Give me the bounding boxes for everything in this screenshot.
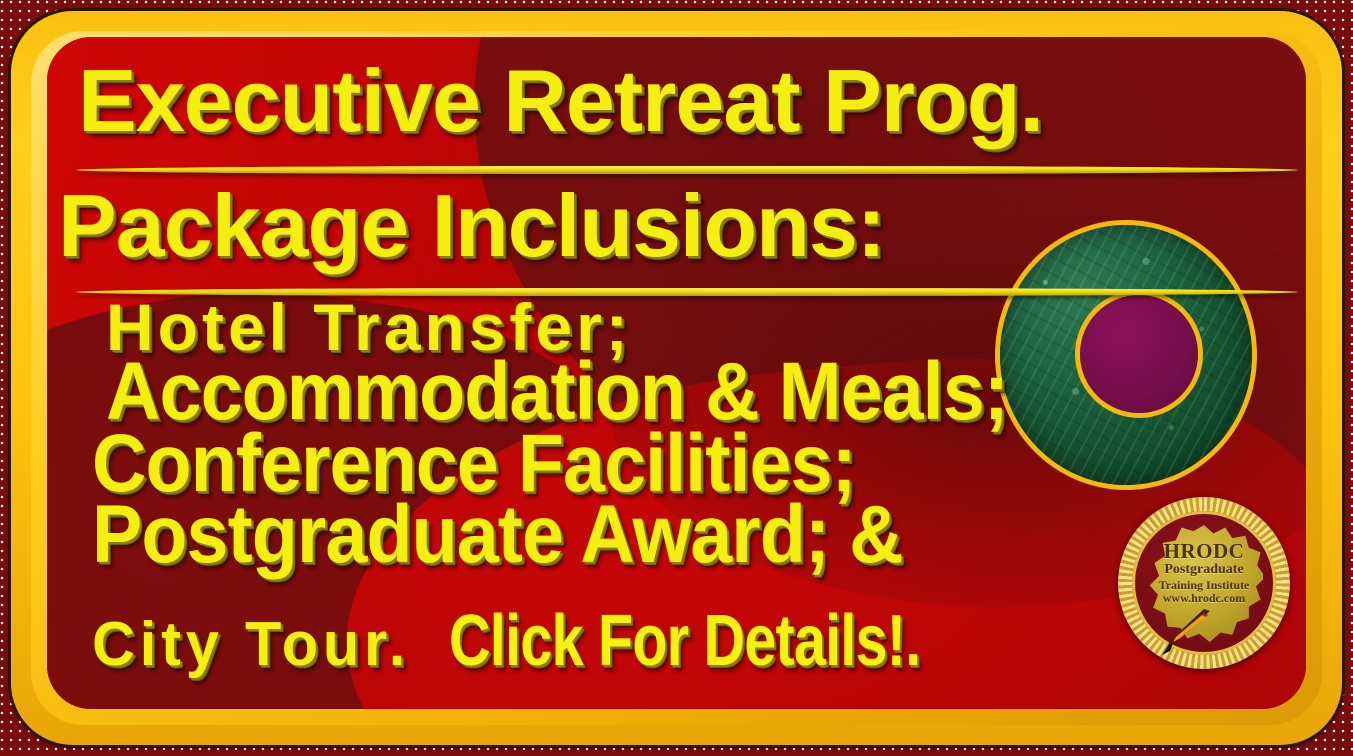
seal-line-training-institute: Training Institute (1118, 579, 1290, 591)
quill-pen-icon (1152, 609, 1214, 655)
hrodc-logo-seal[interactable]: HRODC Postgraduate Training Institute ww… (1118, 497, 1290, 669)
promotional-banner[interactable]: Executive Retreat Prog. Package Inclusio… (0, 0, 1353, 756)
page-title: Executive Retreat Prog. (78, 50, 1278, 152)
list-item: Postgraduate Award; & (92, 496, 1233, 574)
list-item: City Tour. (92, 616, 410, 675)
seal-line-website: www.hrodc.com (1118, 592, 1290, 604)
subtitle-package-inclusions: Package Inclusions: (58, 175, 1298, 277)
seal-line-hrodc: HRODC (1118, 541, 1290, 562)
seal-line-postgraduate: Postgraduate (1118, 563, 1290, 577)
click-for-details-link[interactable]: Click For Details!. (449, 600, 920, 682)
seal-text: HRODC Postgraduate Training Institute ww… (1118, 541, 1290, 604)
divider-line-top (76, 166, 1298, 174)
